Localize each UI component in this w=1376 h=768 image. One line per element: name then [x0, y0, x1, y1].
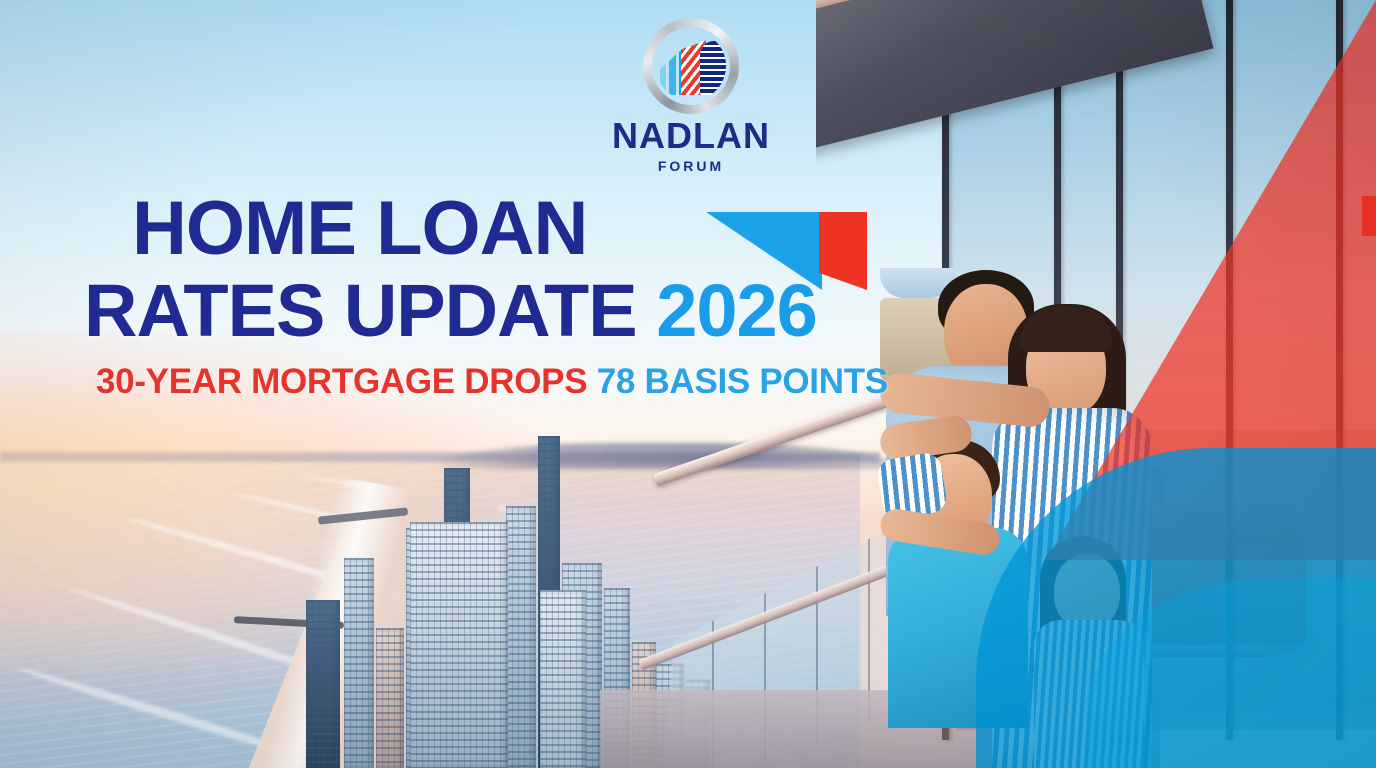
tower-navy-striped-icon — [700, 41, 726, 95]
flag-accent-graphic — [706, 212, 866, 290]
headline-subline: 30-YEAR MORTGAGE DROPS 78 BASIS POINTS — [0, 362, 900, 402]
building-tower-main — [410, 522, 508, 768]
building — [306, 600, 340, 768]
logo-wordmark: NADLAN — [608, 118, 774, 154]
building — [540, 590, 586, 768]
flag-red-shape — [819, 212, 867, 290]
building — [376, 628, 404, 768]
logo-buildings — [656, 31, 726, 101]
headline-line-2-main: RATES UPDATE — [84, 269, 637, 352]
nadlan-buildings-circle-logo-icon — [643, 18, 739, 114]
subline-highlight: 78 BASIS POINTS — [597, 362, 888, 401]
building — [344, 558, 374, 768]
subline-main: 30-YEAR MORTGAGE DROPS — [96, 362, 587, 401]
building — [506, 506, 536, 768]
nadlan-forum-logo[interactable]: NADLAN FORUM — [608, 18, 774, 170]
flag-cyan-triangle — [706, 212, 822, 290]
promo-banner: NADLAN FORUM HOME LOAN RATES UPDATE 2026… — [0, 0, 1376, 768]
logo-tagline: FORUM — [608, 158, 774, 174]
red-edge-strip — [1362, 196, 1376, 236]
